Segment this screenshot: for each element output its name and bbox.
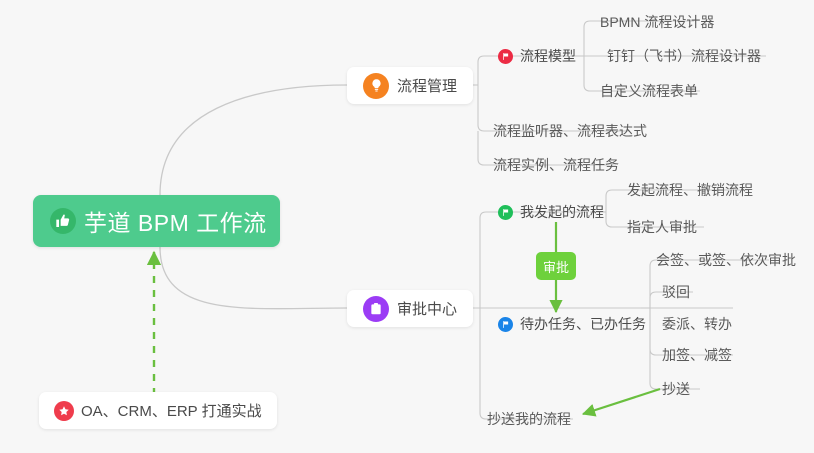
node-label: 自定义流程表单 xyxy=(600,81,698,101)
node-label: 抄送我的流程 xyxy=(487,409,571,429)
node-label: 驳回 xyxy=(662,282,690,302)
node-label: 指定人审批 xyxy=(627,217,697,237)
node-process-instance-task[interactable]: 流程实例、流程任务 xyxy=(487,151,625,179)
node-cc[interactable]: 抄送 xyxy=(656,375,696,403)
node-cc-to-me-process[interactable]: 抄送我的流程 xyxy=(481,405,577,433)
node-label: 待办任务、已办任务 xyxy=(520,314,646,334)
mindmap-canvas: 芋道 BPM 工作流 流程管理 流程模型 BPMN 流程设计器 钉钉（飞书）流程… xyxy=(0,0,814,453)
node-custom-process-form[interactable]: 自定义流程表单 xyxy=(594,77,704,105)
node-label: BPMN 流程设计器 xyxy=(600,12,714,32)
node-delegate-transfer[interactable]: 委派、转办 xyxy=(656,310,738,338)
node-label: 流程模型 xyxy=(520,46,576,66)
node-countersign[interactable]: 会签、或签、依次审批 xyxy=(650,246,802,274)
node-label: 发起流程、撤销流程 xyxy=(627,180,753,200)
star-icon xyxy=(54,401,74,421)
branch-process-management[interactable]: 流程管理 xyxy=(347,67,473,104)
node-reject[interactable]: 驳回 xyxy=(656,278,696,306)
node-label: 加签、减签 xyxy=(662,345,732,365)
node-label: 流程监听器、流程表达式 xyxy=(493,121,647,141)
approval-tag-label: 审批 xyxy=(543,257,569,276)
node-my-initiated-process[interactable]: 我发起的流程 xyxy=(492,198,610,226)
node-label: 我发起的流程 xyxy=(520,202,604,222)
node-bpmn-designer[interactable]: BPMN 流程设计器 xyxy=(594,8,720,36)
node-label: 流程实例、流程任务 xyxy=(493,155,619,175)
node-label: OA、CRM、ERP 打通实战 xyxy=(81,400,262,421)
branch-approval-center[interactable]: 审批中心 xyxy=(347,290,473,327)
root-node-label: 芋道 BPM 工作流 xyxy=(84,204,267,238)
node-process-listener-expression[interactable]: 流程监听器、流程表达式 xyxy=(487,117,653,145)
node-label: 钉钉（飞书）流程设计器 xyxy=(607,46,761,66)
branch-label: 流程管理 xyxy=(397,75,457,96)
branch-label: 审批中心 xyxy=(397,298,457,319)
root-node[interactable]: 芋道 BPM 工作流 xyxy=(33,195,280,247)
thumbs-up-icon xyxy=(50,208,76,234)
node-add-remove-sign[interactable]: 加签、减签 xyxy=(656,341,738,369)
approval-tag[interactable]: 审批 xyxy=(536,252,576,280)
edge-root-to-approval-center xyxy=(160,247,347,309)
edge-root-to-process-management xyxy=(160,85,347,195)
node-integration-practice[interactable]: OA、CRM、ERP 打通实战 xyxy=(39,392,277,429)
node-label: 抄送 xyxy=(662,379,690,399)
flag-green-icon xyxy=(498,205,513,220)
node-process-model[interactable]: 流程模型 xyxy=(492,42,582,70)
arrow-cc-to-ccme xyxy=(583,389,660,414)
node-start-cancel-process[interactable]: 发起流程、撤销流程 xyxy=(621,176,759,204)
lightbulb-icon xyxy=(363,73,389,99)
node-label: 委派、转办 xyxy=(662,314,732,334)
flag-blue-icon xyxy=(498,317,513,332)
clipboard-icon xyxy=(363,296,389,322)
node-label: 会签、或签、依次审批 xyxy=(656,250,796,270)
flag-red-icon xyxy=(498,49,513,64)
node-assignee-approval[interactable]: 指定人审批 xyxy=(621,213,703,241)
node-todo-done-tasks[interactable]: 待办任务、已办任务 xyxy=(492,310,652,338)
node-dingtalk-feishu-designer[interactable]: 钉钉（飞书）流程设计器 xyxy=(601,42,767,70)
